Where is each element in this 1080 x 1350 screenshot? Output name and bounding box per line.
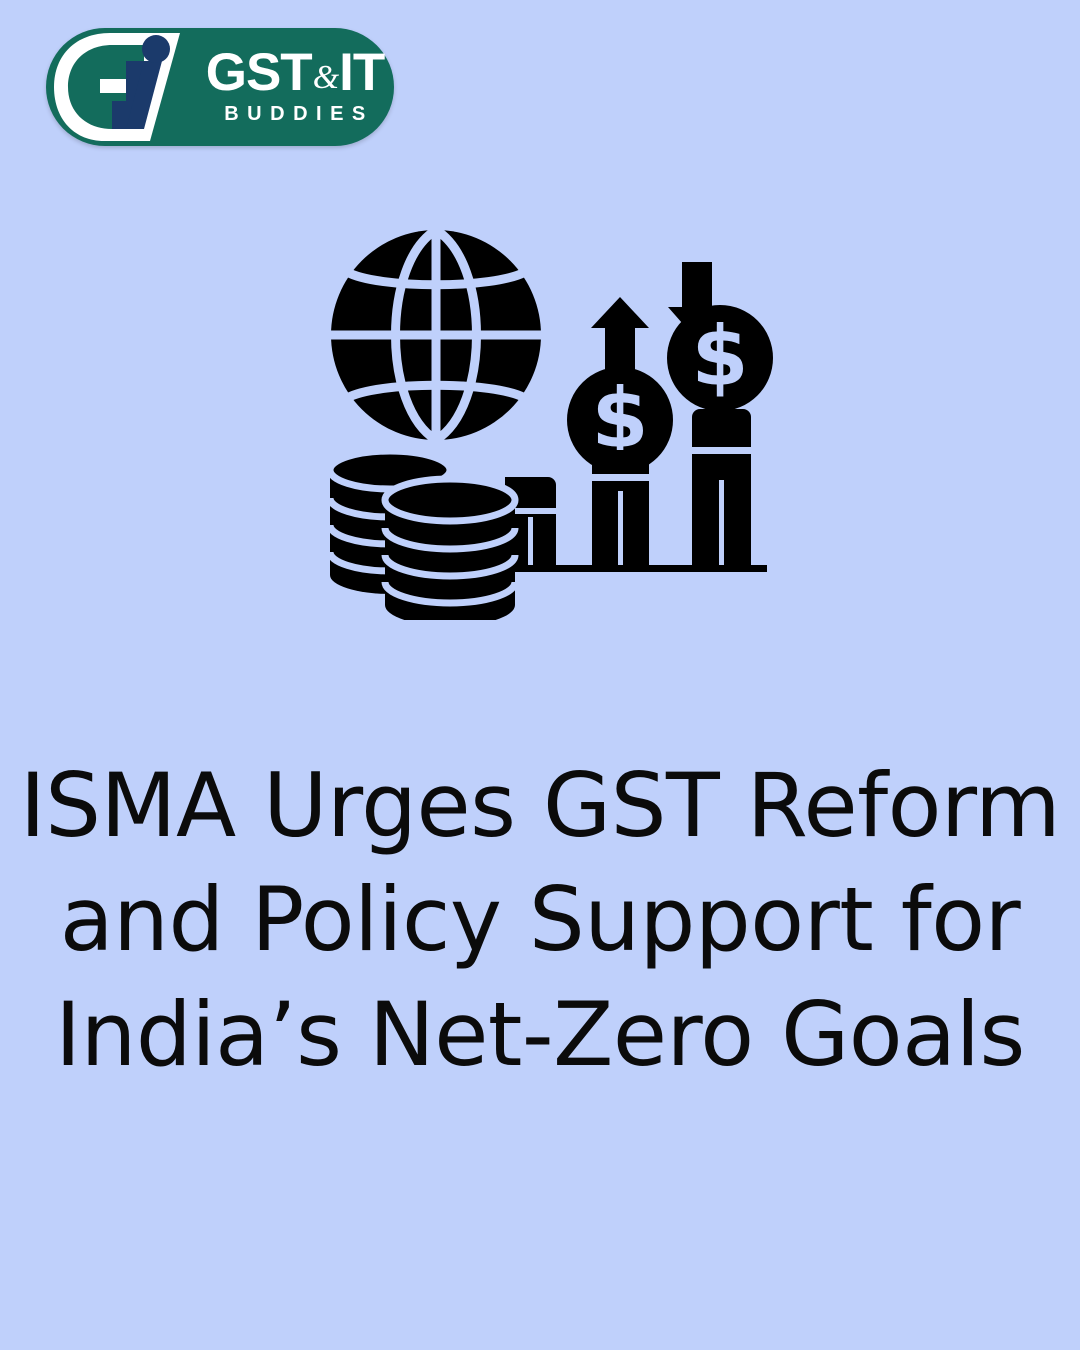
logo-brand-it: IT: [339, 48, 384, 99]
globe-icon: [331, 230, 541, 440]
post-canvas: GST&IT BUDDIES: [0, 0, 1080, 1350]
logo-wordmark: GST&IT BUDDIES: [204, 44, 386, 130]
up-arrow-icon: [591, 297, 649, 377]
dollar-coin-icon: $: [667, 305, 773, 411]
bar-chart-icon: [592, 450, 649, 565]
logo-brand-gst: GST: [206, 48, 312, 99]
post-headline: ISMA Urges GST Reform and Policy Support…: [0, 749, 1080, 1092]
logo-tagline: BUDDIES: [216, 103, 374, 126]
logo-brand-text: GST&IT: [206, 48, 385, 99]
svg-text:$: $: [691, 309, 748, 404]
bar-chart-icon: [692, 409, 751, 565]
gi-monogram-icon: [52, 31, 192, 143]
logo-ampersand: &: [312, 62, 339, 95]
brand-logo[interactable]: GST&IT BUDDIES: [46, 28, 394, 146]
coin-stack-icon: [385, 479, 515, 620]
global-finance-growth-illustration: $ $: [320, 225, 800, 620]
